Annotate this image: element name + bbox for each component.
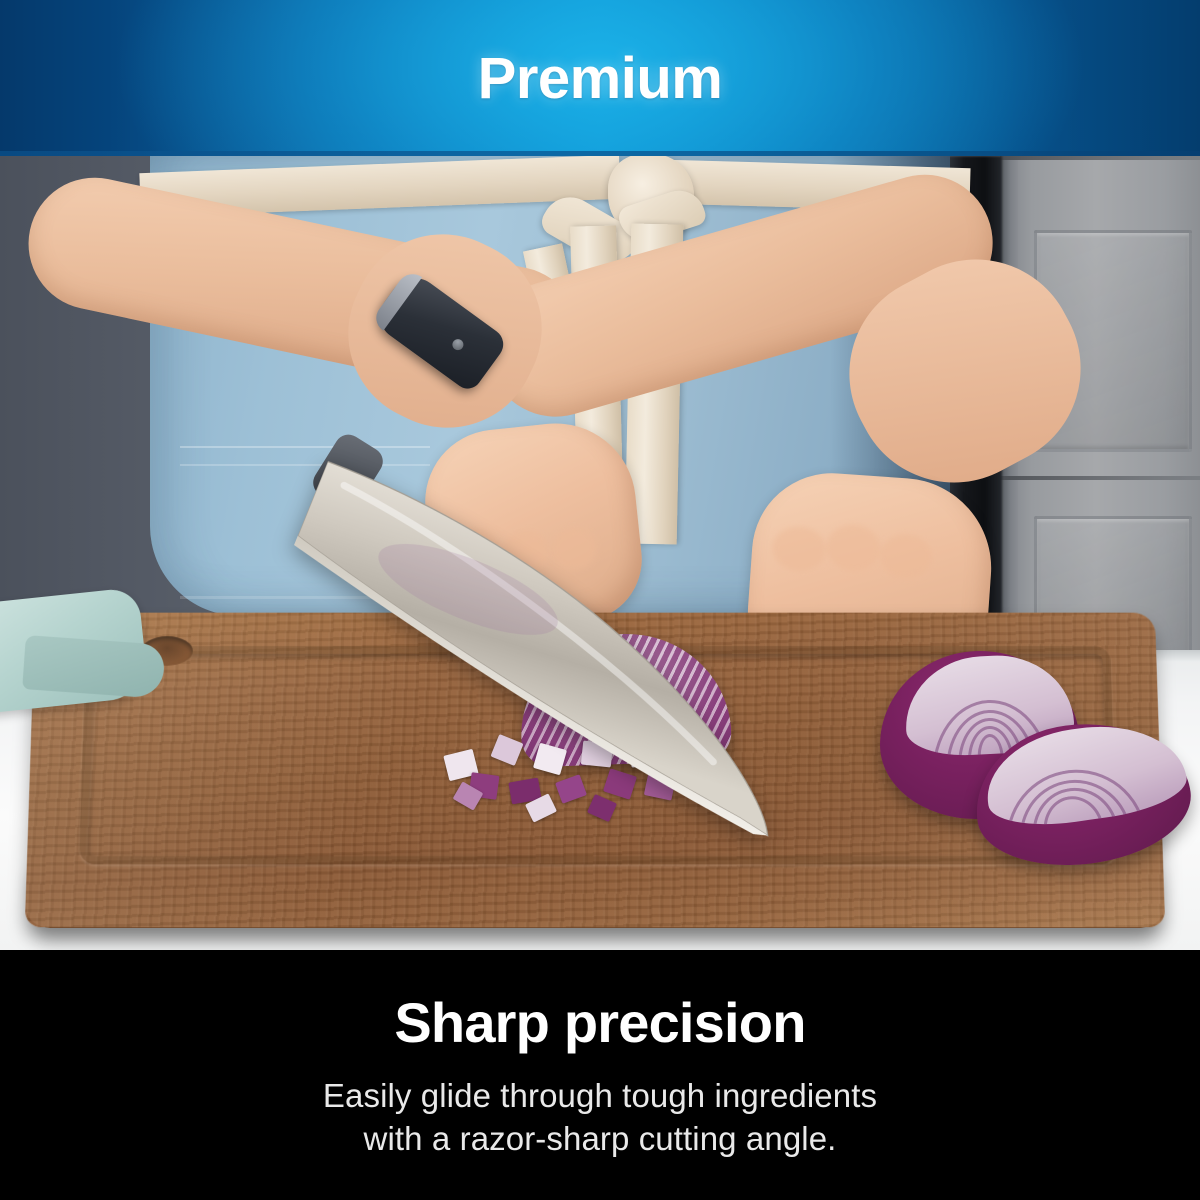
cabinet-seam [1000,156,1200,160]
banner-title: Premium [0,0,1200,156]
knuckle [825,523,882,573]
kitchen-towel-fold [22,635,165,699]
caption-subtitle-line2: with a razor-sharp cutting angle. [323,1118,877,1161]
caption-block: Sharp precision Easily glide through tou… [0,950,1200,1200]
caption-subtitle: Easily glide through tough ingredients w… [323,1075,877,1161]
product-lifestyle-photo [0,156,1200,950]
caption-subtitle-line1: Easily glide through tough ingredients [323,1075,877,1118]
caption-headline: Sharp precision [394,994,805,1053]
knuckle [879,533,934,581]
kitchen-towel [0,587,149,715]
knife-handle-rivet [450,337,465,352]
premium-banner: Premium [0,0,1200,156]
knuckle [771,525,828,573]
product-feature-card: Premium [0,0,1200,1200]
cabinet-seam [1000,476,1200,480]
